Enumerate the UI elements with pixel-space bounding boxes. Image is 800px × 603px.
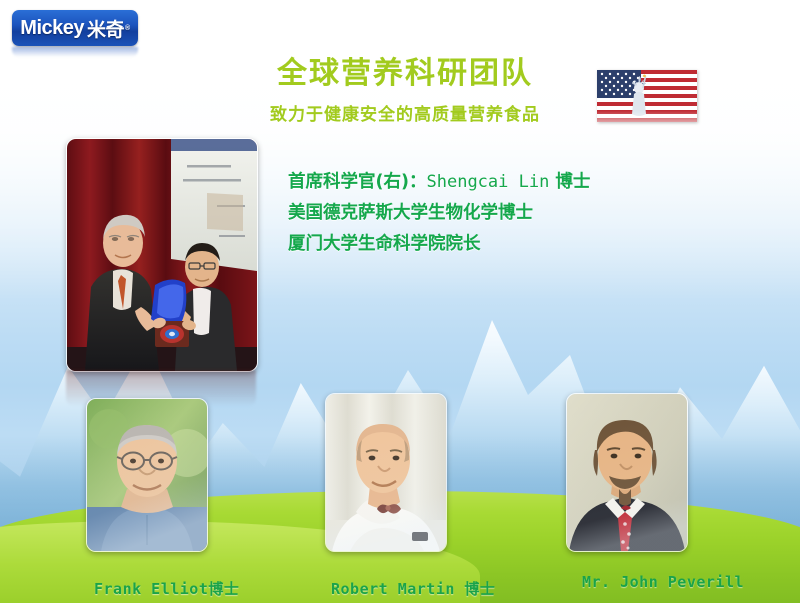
- chief-scientist-bio: 首席科学官(右)：Shengcai Lin 博士 美国德克萨斯大学生物化学博士 …: [288, 167, 590, 260]
- registered-trademark-icon: ®: [125, 25, 130, 32]
- usa-flag-icon: [597, 70, 697, 122]
- brand-logo[interactable]: Mickey 米奇 ®: [12, 10, 140, 50]
- bio-line-1-prefix: 首席科学官(右)：: [288, 172, 427, 192]
- portrait-john-peverill: [566, 393, 688, 552]
- page-title: 全球营养科研团队: [230, 48, 580, 92]
- logo-reflection: [12, 47, 138, 57]
- page-subtitle: 致力于健康安全的高质量营养食品: [210, 100, 600, 125]
- portrait-robert-martin: [325, 393, 447, 552]
- bio-line-1-suffix: 博士: [549, 172, 590, 192]
- presentation-slide: Mickey 米奇 ® 全球营养科研团队 致力于健康安全的高质量营养食品: [0, 0, 800, 603]
- caption-john-peverill: Mr. John Peverill: [582, 573, 744, 591]
- logo-badge: Mickey 米奇 ®: [12, 10, 138, 46]
- bio-line-3: 厦门大学生命科学院院长: [288, 229, 590, 260]
- bio-line-1: 首席科学官(右)：Shengcai Lin 博士: [288, 167, 590, 198]
- award-ceremony-photo: [66, 138, 258, 372]
- logo-text-cn: 米奇: [87, 15, 124, 42]
- bio-line-1-name: Shengcai Lin: [427, 172, 550, 192]
- portrait-frank-elliot: [86, 398, 208, 552]
- logo-text-en: Mickey: [20, 17, 84, 40]
- bio-line-2: 美国德克萨斯大学生物化学博士: [288, 198, 590, 229]
- caption-robert-martin: Robert Martin 博士: [331, 578, 495, 599]
- caption-frank-elliot: Frank Elliot博士: [94, 578, 239, 599]
